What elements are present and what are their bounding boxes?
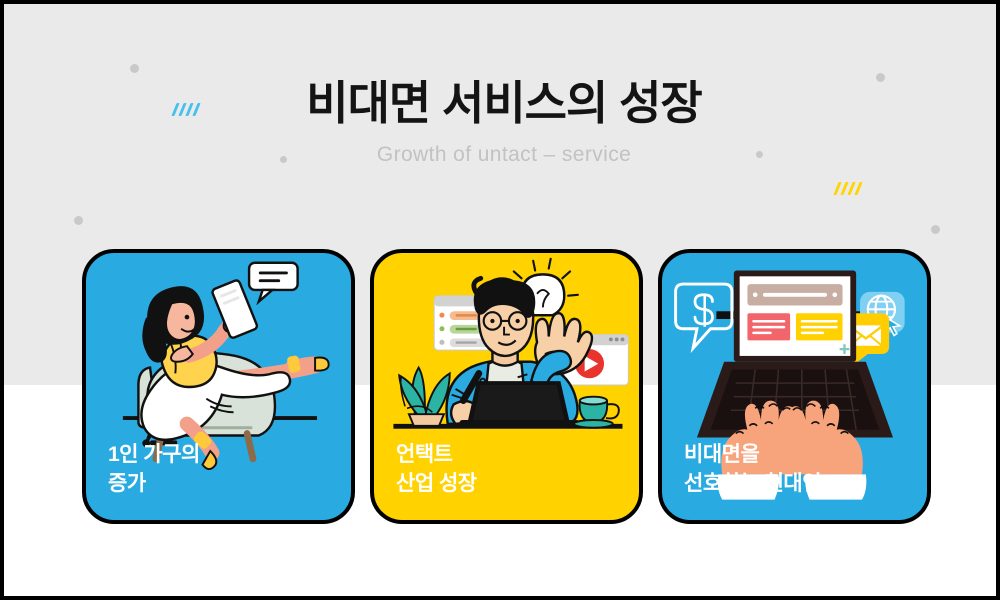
infographic-root: 비대면 서비스의 성장 Growth of untact – service: [0, 0, 1000, 600]
card-untact-industry[interactable]: 언택트 산업 성장: [370, 249, 643, 524]
page-subtitle: Growth of untact – service: [4, 138, 1000, 172]
header: 비대면 서비스의 성장 Growth of untact – service: [4, 74, 1000, 172]
card-label: 1인 가구의 증가: [108, 440, 200, 498]
decor-slashes-yellow-icon: [836, 182, 860, 195]
speech-bubble: [249, 263, 298, 302]
card-single-household[interactable]: 1인 가구의 증가: [82, 249, 355, 524]
decor-dot: [74, 216, 83, 225]
decor-dot: [130, 64, 139, 73]
card-untact-preference[interactable]: 비대면을 선호하는 현대인: [658, 249, 931, 524]
card-label: 언택트 산업 성장: [396, 440, 477, 498]
coffee-cup: [574, 397, 619, 428]
decor-dot: [931, 225, 940, 234]
card-row: 1인 가구의 증가: [82, 249, 932, 524]
card-label: 비대면을 선호하는 현대인: [684, 440, 821, 498]
page-title: 비대면 서비스의 성장: [4, 74, 1000, 132]
